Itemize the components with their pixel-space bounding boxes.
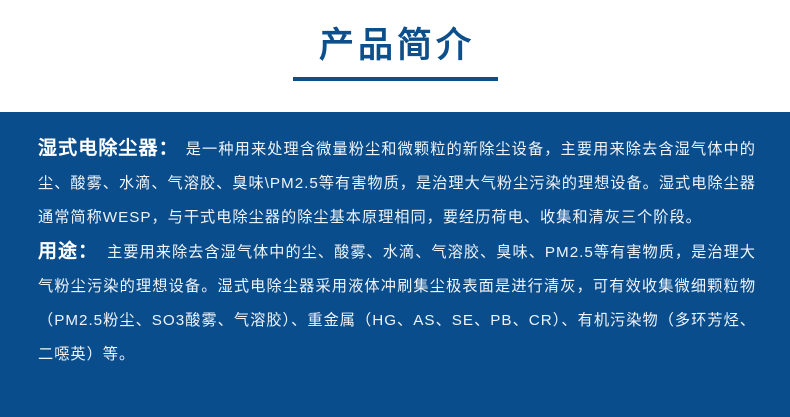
page-header: 产品简介	[0, 0, 790, 112]
paragraph-device-description: 湿式电除尘器：是一种用来处理含微量粉尘和微颗粒的新除尘设备，主要用来除去含湿气体…	[38, 132, 756, 235]
paragraph-lead-label-usage: 用途：	[38, 241, 98, 262]
title-underline-divider	[293, 77, 498, 81]
product-introduction-page: 产品简介 湿式电除尘器：是一种用来处理含微量粉尘和微颗粒的新除尘设备，主要用来除…	[0, 0, 790, 417]
paragraph-body-usage: 主要用来除去含湿气体中的尘、酸雾、水滴、气溶胶、臭味、PM2.5等有害物质，是治…	[38, 244, 756, 363]
description-panel: 湿式电除尘器：是一种用来处理含微量粉尘和微颗粒的新除尘设备，主要用来除去含湿气体…	[0, 112, 790, 417]
paragraph-usage-description: 用途：主要用来除去含湿气体中的尘、酸雾、水滴、气溶胶、臭味、PM2.5等有害物质…	[38, 235, 756, 372]
page-title: 产品简介	[315, 26, 475, 66]
paragraph-lead-label-device: 湿式电除尘器：	[38, 138, 179, 159]
